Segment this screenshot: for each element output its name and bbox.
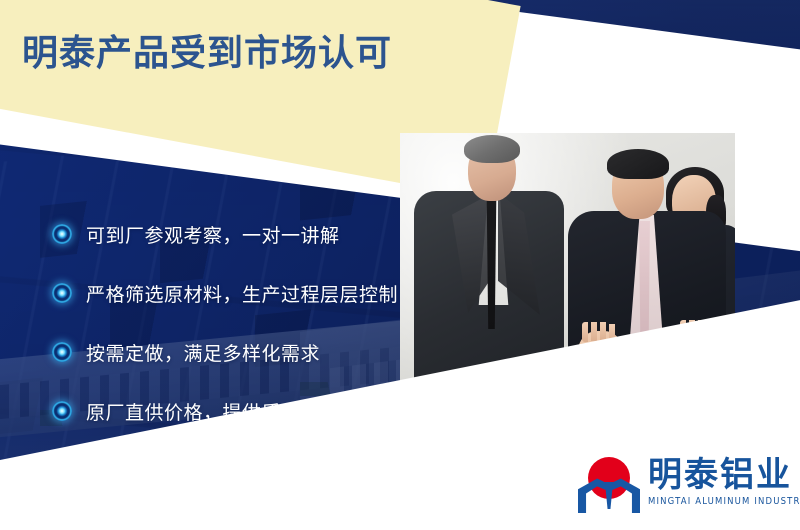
list-item-label: 按需定做，满足多样化需求	[86, 339, 320, 366]
page-title: 明泰产品受到市场认可	[22, 24, 392, 76]
logo-text-block: 明泰铝业 MINGTAI ALUMINUM INDUSTRY CO., LTD	[648, 455, 800, 506]
target-bullet-icon	[52, 401, 72, 421]
company-logo: 明泰铝业 MINGTAI ALUMINUM INDUSTRY CO., LTD	[578, 455, 800, 513]
target-bullet-icon	[52, 342, 72, 362]
list-item: 可到厂参观考察，一对一讲解	[52, 206, 398, 262]
list-item: 严格筛选原材料，生产过程层层控制	[52, 265, 398, 321]
list-item-label: 严格筛选原材料，生产过程层层控制	[86, 280, 398, 307]
person-asian-man-hair	[607, 149, 669, 179]
list-item-label: 可到厂参观考察，一对一讲解	[86, 221, 340, 248]
person-western-man-hair	[464, 135, 520, 163]
logo-company-name-en: MINGTAI ALUMINUM INDUSTRY CO., LTD	[648, 496, 800, 507]
mingtai-sun-mountain-logo-icon	[578, 455, 640, 513]
promo-banner: 明泰产品受到市场认可 可到厂参观考察，一对一讲解 严格筛选原材料，生产过程层层控…	[0, 0, 800, 530]
logo-company-name-cn: 明泰铝业	[648, 457, 800, 494]
list-item: 按需定做，满足多样化需求	[52, 324, 398, 380]
target-bullet-icon	[52, 283, 72, 303]
target-bullet-icon	[52, 224, 72, 244]
